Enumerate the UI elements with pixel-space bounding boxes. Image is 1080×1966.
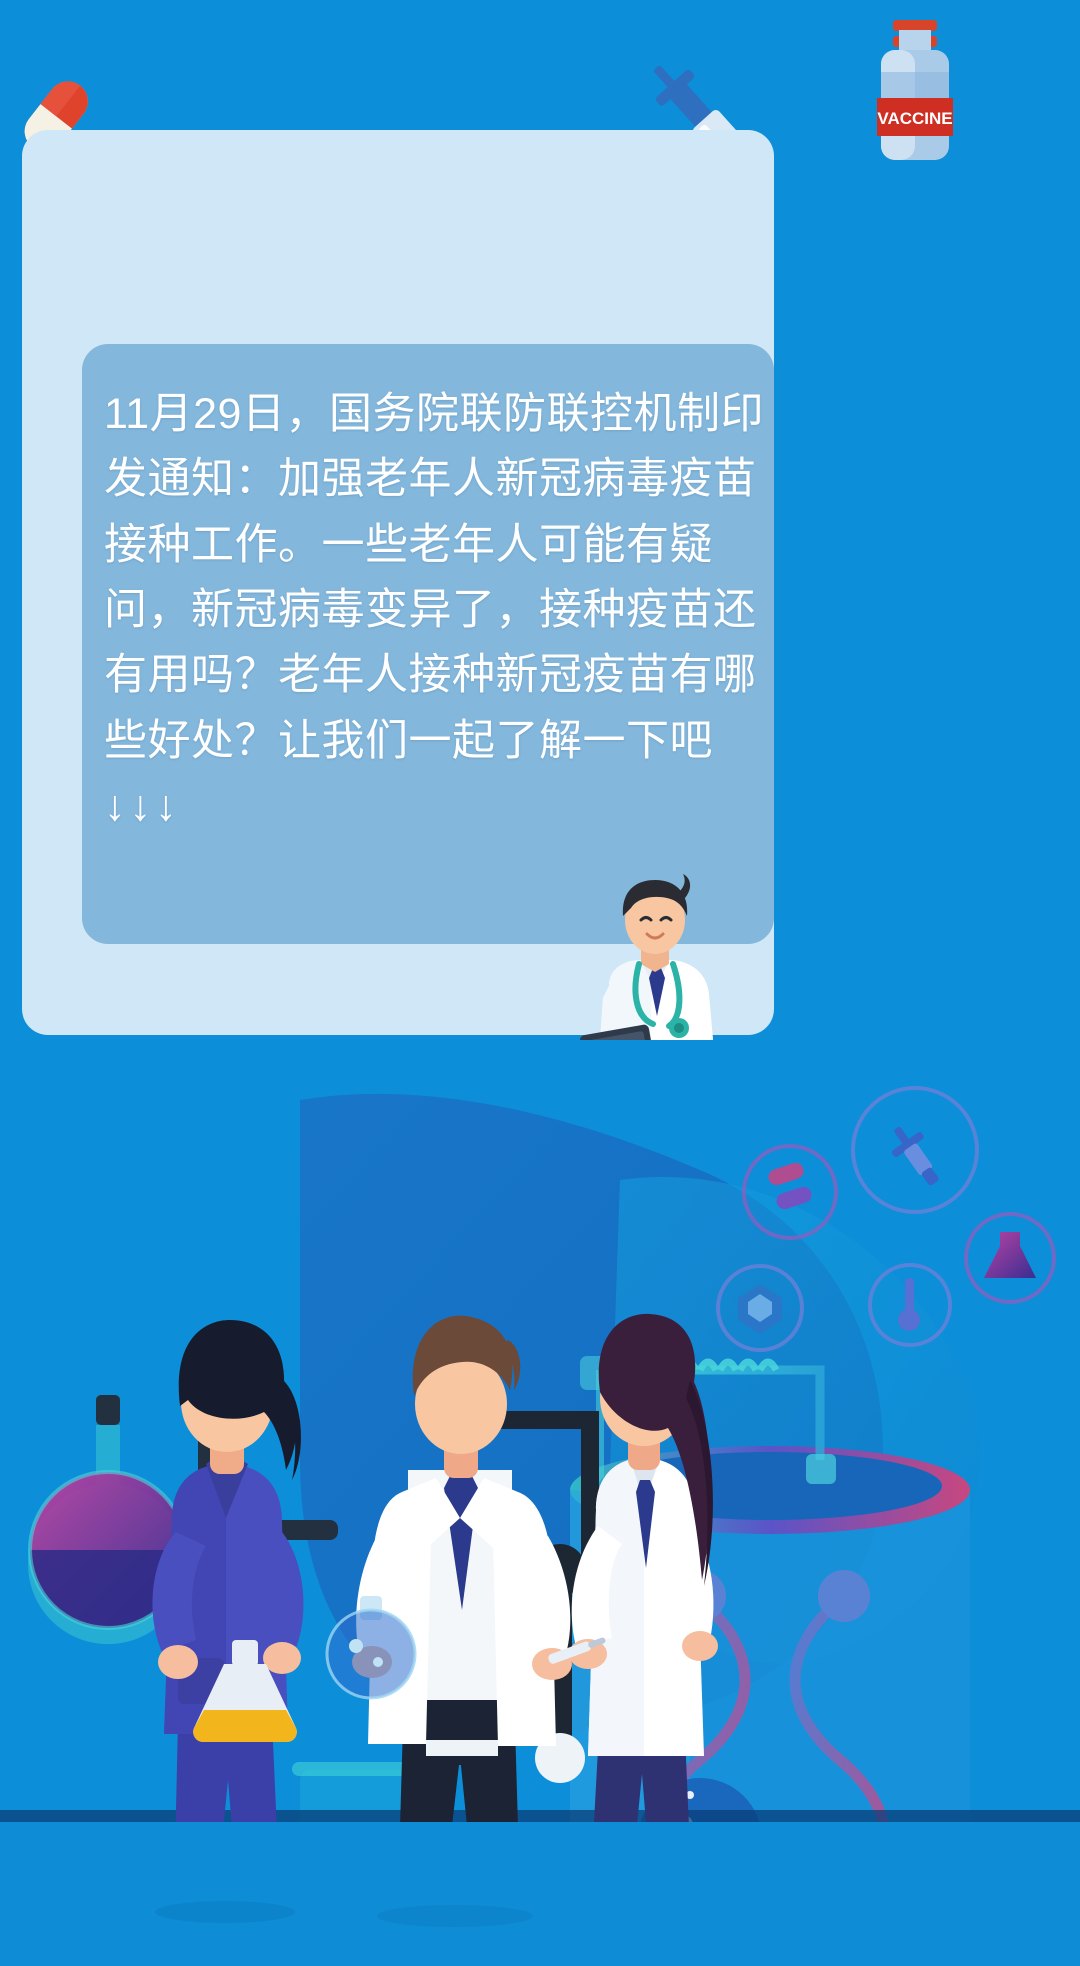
message-text: 11月29日，国务院联防联控机制印发通知：加强老年人新冠病毒疫苗接种工作。一些老… [104, 382, 766, 840]
message-line-7: 一下吧 [583, 717, 714, 765]
main-card: 11月29日，国务院联防联控机制印发通知：加强老年人新冠病毒疫苗接种工作。一些老… [22, 130, 774, 1035]
vaccine-vial-icon: VACCINE [855, 12, 975, 172]
vial-label: VACCINE [877, 109, 952, 128]
message-line-1: 11月29日，国务院联防联控机制 [104, 390, 720, 438]
message-panel: 11月29日，国务院联防联控机制印发通知：加强老年人新冠病毒疫苗接种工作。一些老… [82, 344, 774, 944]
poster-root: VACCINE 11月29日，国务院联防联控机制印发通知：加强老年人新冠病毒疫苗… [0, 0, 1080, 1966]
down-arrows-icon: ↓↓↓ [104, 782, 181, 830]
laboratory-scene-illustration [0, 1040, 1080, 1966]
